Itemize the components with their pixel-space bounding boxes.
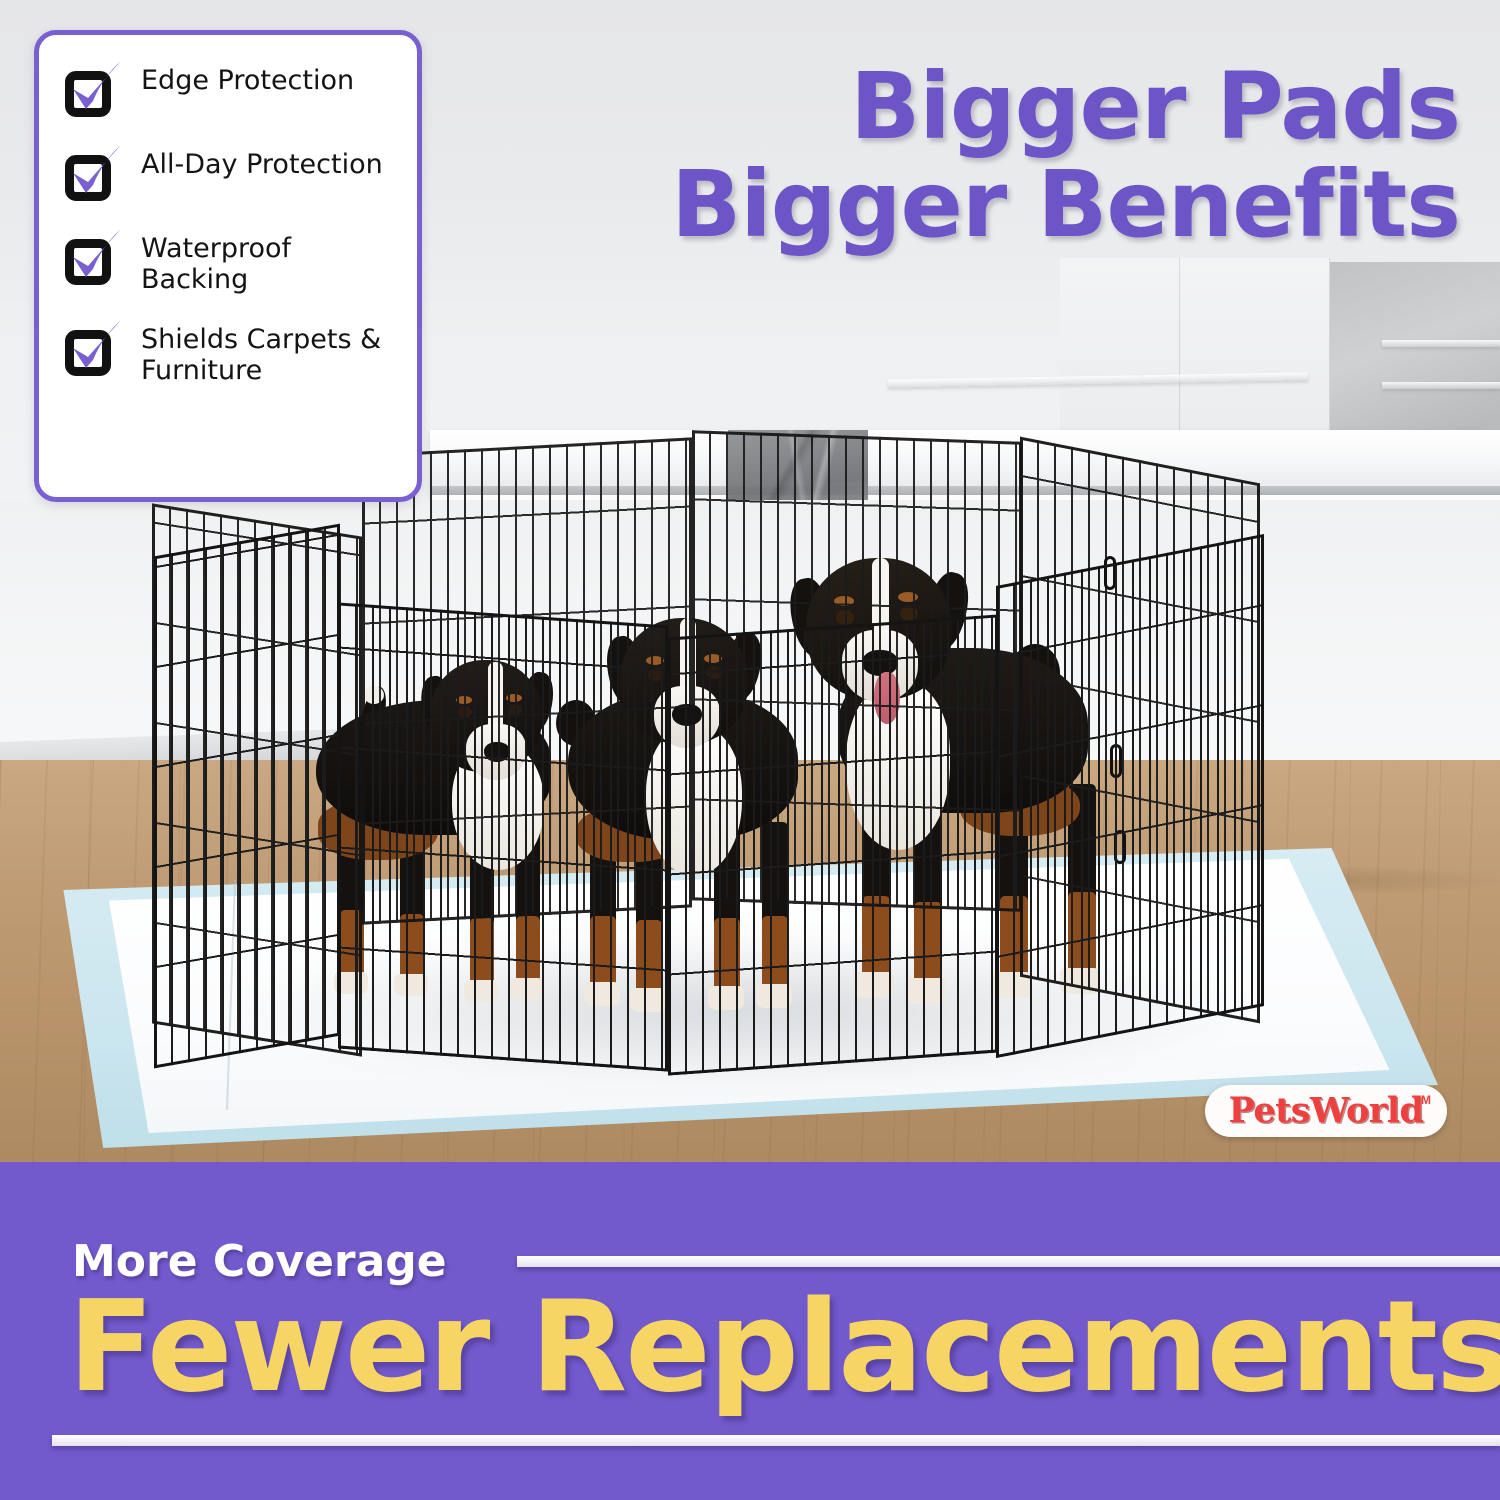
bottom-promo-banner: More Coverage Fewer Replacements [0,1162,1500,1500]
banner-divider-rule-bottom [52,1435,1500,1446]
brand-logo: PetsWorld TM [1205,1085,1447,1137]
checkbox-check-icon [59,318,125,380]
glass-shelf-upper [1382,340,1500,347]
checkbox-check-icon [59,143,125,205]
playpen-panel-front-left [154,524,340,1069]
playpen-panel-frame [338,602,668,1071]
feature-item-waterproof-backing: Waterproof Backing [59,227,399,296]
playpen-panel-front-center-right [668,614,998,1075]
check-mark-glyph [61,57,127,119]
banner-headline: Fewer Replacements [68,1284,1488,1410]
feature-item-all-day-protection: All-Day Protection [59,143,399,205]
banner-divider-rule-top [517,1256,1500,1267]
playpen-panel-frame [154,524,340,1069]
feature-label: Edge Protection [141,59,354,96]
page-title: Bigger Pads Bigger Benefits [520,58,1460,253]
check-mark-glyph [61,316,127,378]
playpen-panel-front-center-left [338,602,668,1071]
playpen-panel-frame [996,534,1264,1058]
headline-line-2: Bigger Benefits [520,156,1460,254]
feature-list-card: Edge Protection All-Day Protection Water… [34,30,422,502]
playpen-panel-front-right [996,534,1264,1058]
feature-item-shields-carpets-furniture: Shields Carpets & Furniture [59,318,399,387]
headline-line-1: Bigger Pads [850,53,1460,160]
feature-label: Shields Carpets & Furniture [141,318,399,387]
playpen-panel-frame [668,614,998,1075]
feature-item-edge-protection: Edge Protection [59,59,399,121]
check-mark-glyph [61,225,127,287]
check-mark-glyph [61,141,127,203]
brand-logo-text: PetsWorld [1228,1090,1423,1131]
feature-label: Waterproof Backing [141,227,399,296]
glass-shelf-lower [1382,382,1500,389]
trademark-symbol: TM [1414,1093,1431,1107]
checkbox-check-icon [59,227,125,289]
marketing-image-canvas: PetsWorld TM Bigger Pads Bigger Benefits… [0,0,1500,1500]
feature-label: All-Day Protection [141,143,383,180]
checkbox-check-icon [59,59,125,121]
